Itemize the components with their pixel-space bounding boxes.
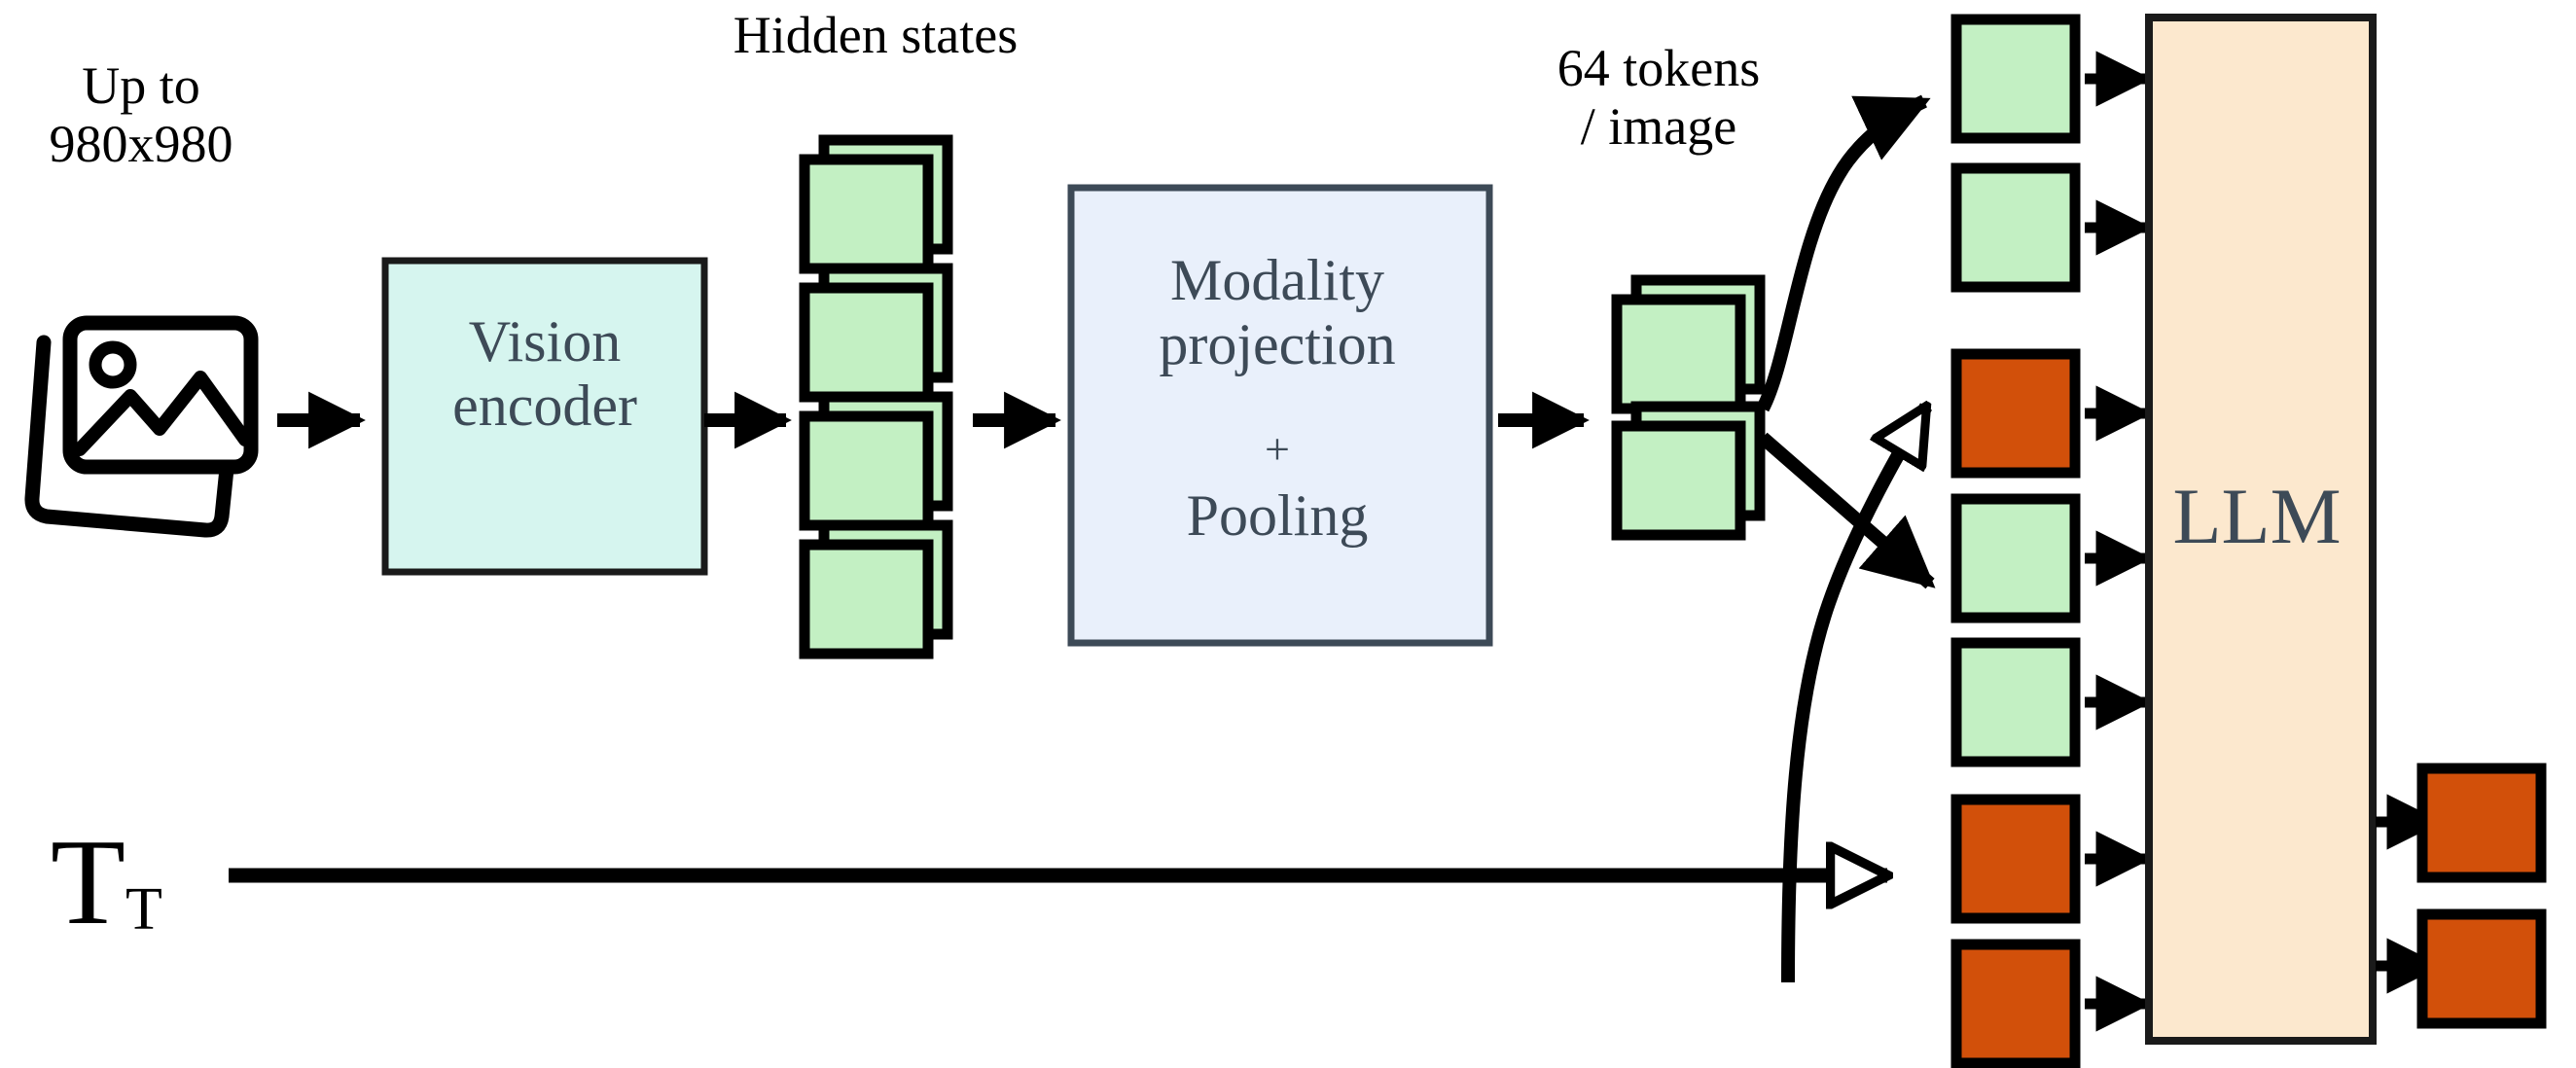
llm-input-token bbox=[1956, 499, 2075, 618]
llm-input-token bbox=[1956, 944, 2075, 1063]
tokens-per-image-label: 64 tokens/ image bbox=[1488, 39, 1829, 157]
llm-input-token bbox=[1956, 354, 2075, 473]
tokens-per-image-line1: 64 tokens bbox=[1557, 39, 1761, 97]
input-resolution-line1: Up to bbox=[82, 56, 200, 115]
hidden-state-stack bbox=[805, 140, 948, 268]
text-token-subscript: T bbox=[125, 876, 162, 943]
text-token-symbol: TT bbox=[51, 822, 162, 944]
hidden-state-stack bbox=[805, 397, 948, 525]
llm-label: LLM bbox=[2130, 473, 2383, 560]
hidden-state-stack bbox=[805, 525, 948, 654]
pooled-token-stack bbox=[1617, 407, 1760, 535]
modality-line1: Modality bbox=[1170, 248, 1384, 312]
modality-line2: projection bbox=[1159, 312, 1395, 376]
llm-output-token bbox=[2422, 914, 2541, 1023]
vision-encoder-label: Visionencoder bbox=[384, 309, 705, 438]
llm-input-token bbox=[1956, 19, 2075, 138]
vision-encoder-line2: encoder bbox=[452, 374, 637, 438]
input-resolution-label: Up to980x980 bbox=[0, 56, 282, 174]
llm-input-token bbox=[1956, 643, 2075, 762]
input-resolution-line2: 980x980 bbox=[50, 115, 233, 173]
hidden-state-stack bbox=[805, 268, 948, 397]
input-image-icon bbox=[32, 323, 251, 530]
hidden-states-label: Hidden states bbox=[662, 6, 1090, 64]
text-token-base: T bbox=[51, 815, 125, 950]
modality-projection-label: Modalityprojection bbox=[1068, 248, 1486, 376]
tokens-per-image-line2: / image bbox=[1581, 97, 1736, 156]
llm-input-token bbox=[1956, 800, 2075, 918]
architecture-diagram: Up to980x980 Hidden states 64 tokens/ im… bbox=[0, 0, 2576, 1068]
vision-encoder-line1: Vision bbox=[469, 309, 621, 374]
modality-plus-sign: + bbox=[1068, 425, 1486, 475]
llm-input-token bbox=[1956, 168, 2075, 287]
pooling-label: Pooling bbox=[1068, 483, 1486, 548]
llm-output-token bbox=[2422, 768, 2541, 877]
pooled-token-stack bbox=[1617, 280, 1760, 409]
